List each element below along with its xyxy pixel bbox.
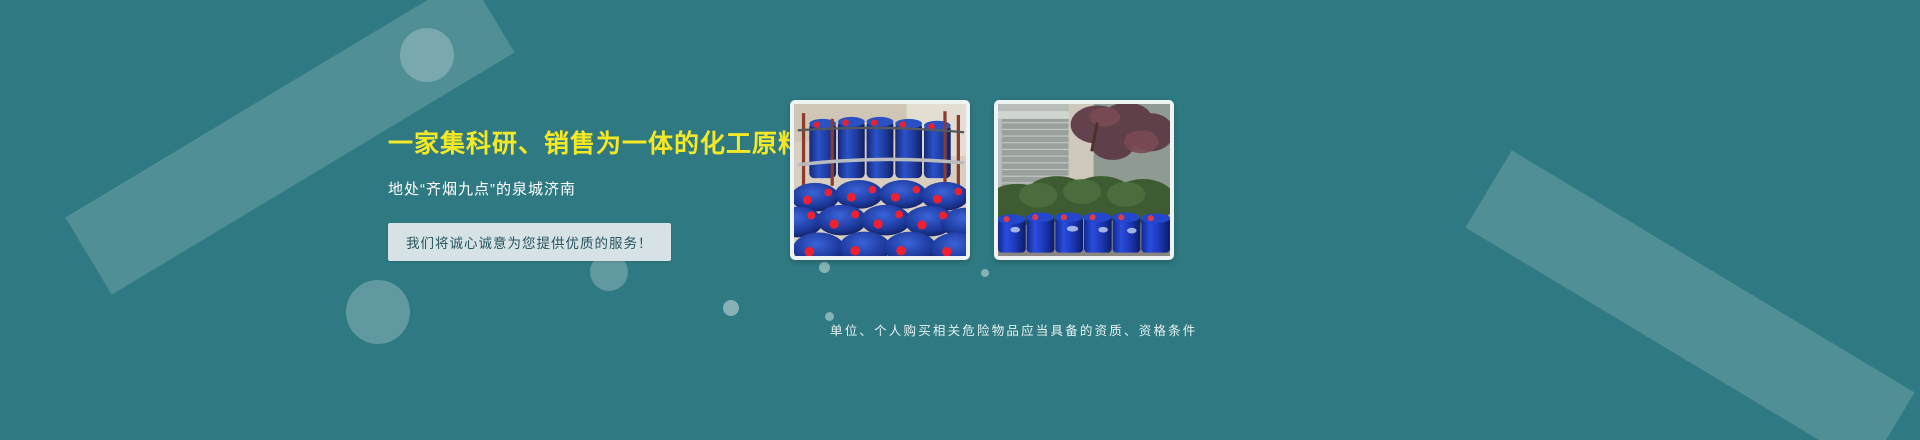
service-promise-button[interactable]: 我们将诚心诚意为您提供优质的服务！ <box>388 223 671 261</box>
banner-subtitle: 地处“齐烟九点”的泉城济南 <box>388 178 788 199</box>
decor-circle-bottom-left <box>346 280 410 344</box>
decor-dot-small-d <box>981 269 989 277</box>
photo-blue-chemical-drums-on-truck[interactable] <box>790 100 970 260</box>
decor-circle-top <box>400 28 454 82</box>
banner-text-column: 一家集科研、销售为一体的化工原料公司 地处“齐烟九点”的泉城济南 我们将诚心诚意… <box>388 128 788 261</box>
hero-banner: 一家集科研、销售为一体的化工原料公司 地处“齐烟九点”的泉城济南 我们将诚心诚意… <box>0 0 1920 440</box>
page-title: 一家集科研、销售为一体的化工原料公司 <box>388 128 788 161</box>
photo-blue-drums-outdoor-yard[interactable] <box>994 100 1174 260</box>
drums-truck-illustration <box>794 104 966 256</box>
diagonal-stripe-right <box>1465 150 1914 440</box>
drums-yard-illustration <box>998 104 1170 256</box>
photo-gallery <box>790 100 1174 260</box>
safety-notice-caption: 单位、个人购买相关危险物品应当具备的资质、资格条件 <box>830 320 1198 339</box>
decor-dot-small-b <box>819 262 830 273</box>
decor-dot-small-a <box>723 300 739 316</box>
